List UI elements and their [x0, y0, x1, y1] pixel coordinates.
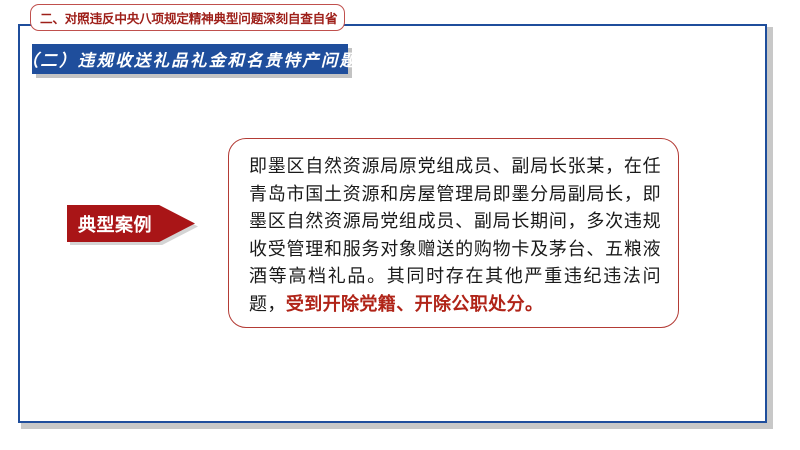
- subtitle-bar: （二）违规收送礼品礼金和名贵特产问题: [32, 44, 348, 74]
- case-banner-label: 典型案例: [78, 211, 152, 237]
- case-emphasis-text: 受到开除党籍、开除公职处分。: [286, 294, 544, 314]
- case-text-box: 即墨区自然资源局原党组成员、副局长张某，在任青岛市国土资源和房屋管理局即墨分局副…: [228, 138, 679, 328]
- slide-canvas: 二、对照违反中央八项规定精神典型问题深刻自查自省 （二）违规收送礼品礼金和名贵特…: [0, 0, 800, 450]
- case-body-text: 即墨区自然资源局原党组成员、副局长张某，在任青岛市国土资源和房屋管理局即墨分局副…: [249, 156, 661, 314]
- case-paragraph: 即墨区自然资源局原党组成员、副局长张某，在任青岛市国土资源和房屋管理局即墨分局副…: [249, 153, 661, 318]
- section-label-text: 二、对照违反中央八项规定精神典型问题深刻自查自省: [40, 8, 337, 27]
- subtitle-text: （二）违规收送礼品礼金和名贵特产问题: [22, 47, 359, 71]
- section-label: 二、对照违反中央八项规定精神典型问题深刻自查自省: [30, 4, 345, 31]
